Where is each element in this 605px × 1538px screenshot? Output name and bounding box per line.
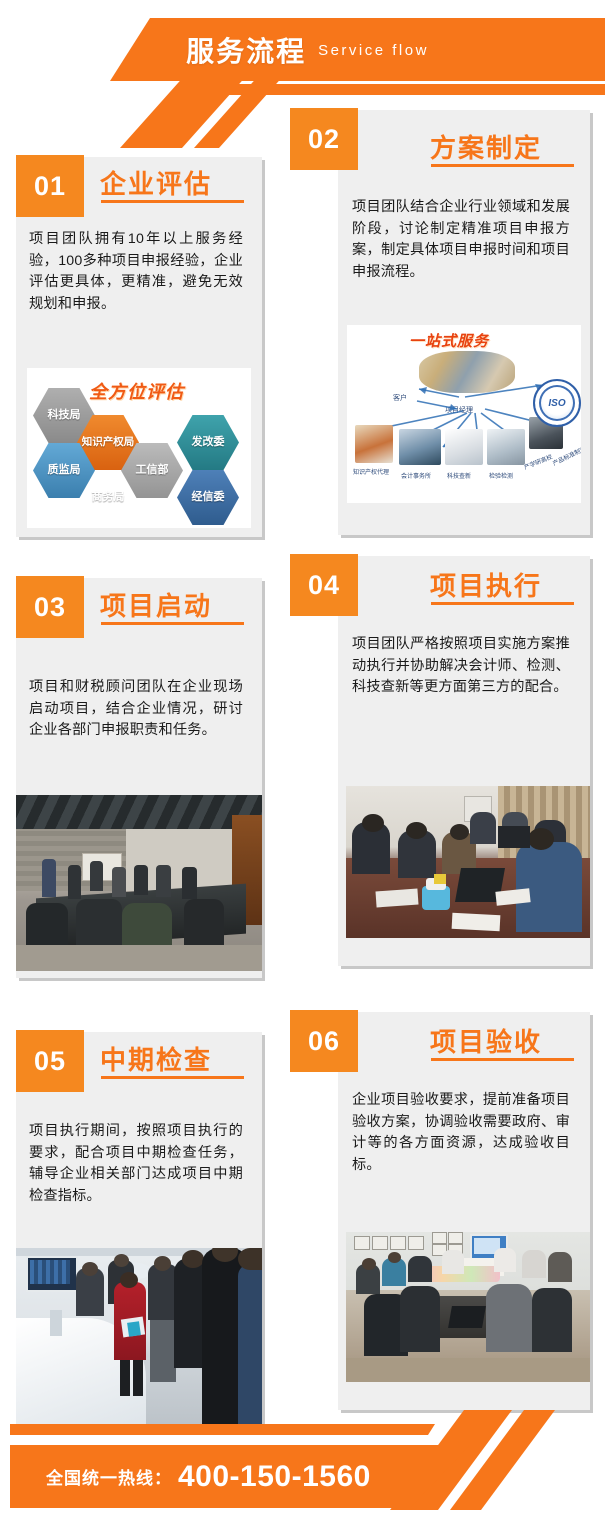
step-badge-06: 06 — [290, 1010, 358, 1072]
step-title-rule-01 — [101, 200, 244, 203]
oss-node-ip — [355, 425, 393, 463]
step-body-06: 企业项目验收要求，提前准备项目验收方案，协调验收需要政府、审计等的各方面资源，达… — [352, 1090, 570, 1176]
step-title-02: 方案制定 — [430, 128, 542, 165]
one-stop-service-diagram-02: 一站式服务 客户 项目经理 — [347, 325, 581, 503]
header-thin-stripe — [0, 84, 605, 95]
step-title-01: 企业评估 — [100, 164, 212, 201]
service-flow-infographic: 服务流程 Service flow 01 企业评估 项目团队拥有10年以上服务经… — [0, 0, 605, 1538]
hotline: 全国统一热线： 400-150-1560 — [46, 1445, 371, 1508]
oss-node-inspection — [487, 429, 525, 465]
step-body-04: 项目团队严格按照项目实施方案推动执行并协助解决会计师、检测、科技查新等更方面第三… — [352, 634, 570, 699]
hotline-label: 全国统一热线： — [46, 1464, 172, 1489]
hexagon-label: 科技局 — [48, 409, 81, 421]
hexagon-label: 商务局 — [92, 491, 125, 503]
page-header: 服务流程 Service flow — [0, 0, 605, 120]
hexagon-label: 知识产权局 — [82, 437, 135, 449]
oss-node-accounting — [399, 429, 441, 465]
oss-iso-seal-icon: ISO — [533, 379, 581, 427]
hexagon-label: 工信部 — [136, 464, 169, 476]
hexagon-label: 质监局 — [48, 464, 81, 476]
oss-seal-text: ISO — [548, 398, 565, 409]
oss-label-techsearch: 科技查新 — [447, 471, 471, 480]
step-title-04: 项目执行 — [430, 566, 542, 603]
hexagon-chart-title: 全方位评估 — [89, 378, 184, 404]
step-title-03: 项目启动 — [100, 586, 212, 623]
oss-label-ip: 知识产权代理 — [353, 467, 389, 476]
hotline-number[interactable]: 400-150-1560 — [178, 1460, 371, 1494]
step-body-03: 项目和财税顾问团队在企业现场启动项目，结合企业情况，研讨企业各部门申报职责和任务… — [29, 677, 243, 742]
hexagon-fagaiwei: 发改委 — [177, 415, 239, 470]
step-badge-05: 05 — [16, 1030, 84, 1092]
hexagon-jingxinwei: 经信委 — [177, 470, 239, 525]
page-title: 服务流程 Service flow — [0, 22, 605, 78]
step-badge-03: 03 — [16, 576, 84, 638]
step-body-02: 项目团队结合企业行业领域和发展阶段，讨论制定精准项目申报方案，制定具体项目申报时… — [352, 197, 570, 283]
step-title-rule-03 — [101, 622, 244, 625]
step-badge-02: 02 — [290, 108, 358, 170]
step-title-06: 项目验收 — [430, 1022, 542, 1059]
photo-conference-room-kickoff — [16, 795, 262, 971]
hexagon-chart-01: 全方位评估 科技局 知识产权局 质监局 工信部 商务局 发改委 经信委 — [27, 368, 251, 528]
step-title-rule-02 — [431, 164, 574, 167]
page-footer: 全国统一热线： 400-150-1560 — [0, 1424, 605, 1538]
photo-team-working-laptops — [346, 786, 590, 938]
step-body-01: 项目团队拥有10年以上服务经验，100多种项目申报经验，企业评估更具体，更精准，… — [29, 229, 243, 315]
step-body-05: 项目执行期间，按照项目执行的要求，配合项目中期检查任务，辅导企业相关部门达成项目… — [29, 1121, 243, 1207]
step-title-05: 中期检查 — [100, 1040, 212, 1077]
hexagon-label: 经信委 — [192, 491, 225, 503]
step-title-rule-04 — [431, 602, 574, 605]
photo-showroom-tour — [16, 1248, 262, 1424]
page-title-en: Service flow — [318, 42, 429, 59]
oss-label-accounting: 会计事务所 — [401, 471, 431, 480]
oss-node-techsearch — [445, 429, 483, 465]
step-title-rule-05 — [101, 1076, 244, 1079]
step-title-rule-06 — [431, 1058, 574, 1061]
step-badge-01: 01 — [16, 155, 84, 217]
photo-acceptance-meeting — [346, 1232, 590, 1382]
page-title-cn: 服务流程 — [186, 30, 306, 70]
hexagon-label: 发改委 — [192, 436, 225, 448]
step-badge-04: 04 — [290, 554, 358, 616]
oss-label-inspection: 检验检测 — [489, 471, 513, 480]
